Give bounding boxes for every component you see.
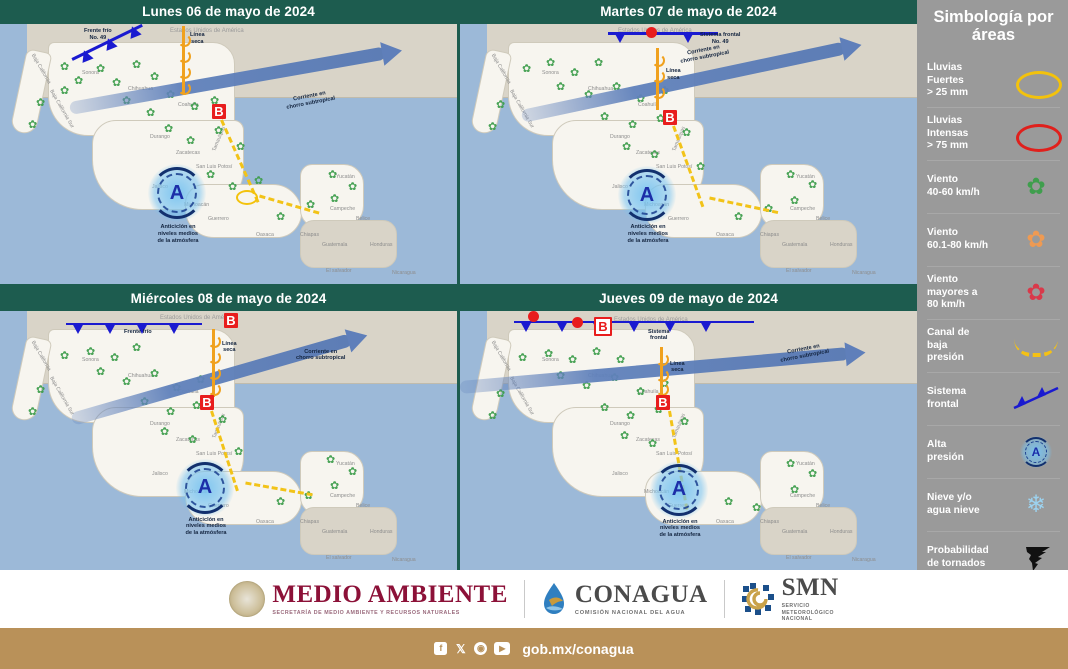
- panel-title-tuesday: Martes 07 de mayo de 2024: [460, 0, 917, 24]
- label-jalisco: Jalisco: [152, 471, 168, 477]
- red-ellipse-icon: [1012, 117, 1060, 151]
- label-nicaragua: Nicaragua: [392, 270, 416, 276]
- wind-swirl-icon: ✿: [164, 124, 173, 135]
- label-belice: Belice: [816, 503, 830, 509]
- wind-swirl-icon: ✿: [132, 343, 141, 354]
- facebook-icon[interactable]: f: [434, 642, 447, 655]
- yellow-dashed-trough-icon: [1012, 329, 1060, 363]
- wind-swirl-icon: ✿: [330, 481, 339, 492]
- wind-swirl-icon: ✿: [790, 485, 799, 496]
- high-pressure-letter: A: [148, 164, 206, 222]
- wind-swirl-icon: ✿: [276, 497, 285, 508]
- weather-forecast-infographic: Lunes 06 de mayo de 2024 Estados Unidos …: [0, 0, 1068, 669]
- low-pressure-marker: B: [656, 395, 670, 410]
- wind-swirl-icon: ✿: [150, 72, 159, 83]
- wind-swirl-icon: ✿: [600, 403, 609, 414]
- dry-line-scallop: [656, 353, 669, 366]
- panel-title-thursday: Jueves 09 de mayo de 2024: [460, 287, 917, 311]
- wind-swirl-icon: ✿: [734, 212, 743, 223]
- conagua-water-drop-icon: [541, 582, 568, 616]
- dry-line-scallop: [652, 54, 665, 67]
- label-el-salvador: El salvador: [786, 555, 812, 561]
- cold-front-pip: [556, 321, 568, 332]
- label-belice: Belice: [356, 503, 370, 509]
- wind-swirl-icon: ✿: [570, 68, 579, 79]
- wind-swirl-icon: ✿: [636, 387, 645, 398]
- logo-medio-ambiente: MEDIO AMBIENTE SECRETARÍA DE MEDIO AMBIE…: [213, 581, 524, 617]
- cold-front-svg: [1012, 382, 1060, 416]
- red-wind-swirl-icon: ✿: [1012, 276, 1060, 310]
- wind-swirl-icon: ✿: [330, 194, 339, 205]
- dry-line-label: Línea seca: [222, 341, 237, 355]
- dry-line-label: Línea seca: [666, 68, 681, 82]
- conagua-subtitle: COMISIÓN NACIONAL DEL AGUA: [575, 610, 708, 616]
- wind-swirl-icon: ✿: [682, 128, 691, 139]
- map-tuesday: Estados Unidos de América Baja Californi…: [460, 24, 917, 284]
- wind-swirl-icon: ✿: [86, 347, 95, 358]
- label-honduras: Honduras: [830, 529, 853, 535]
- jet-stream-label: Corriente en chorro subtropical: [296, 349, 345, 363]
- wind-swirl-icon: ✿: [594, 58, 603, 69]
- high-pressure-letter: A: [176, 459, 234, 517]
- label-guerrero: Guerrero: [208, 216, 229, 222]
- heavy-rain-ellipse: [236, 190, 258, 205]
- wind-swirl-icon: ✿: [186, 136, 195, 147]
- panel-title-wednesday: Miércoles 08 de mayo de 2024: [0, 287, 457, 311]
- wind-swirl-icon: ✿: [146, 108, 155, 119]
- label-yucatan: Yucatán: [336, 174, 355, 180]
- wind-swirl-icon: ✿: [28, 120, 37, 131]
- label-el-salvador: El salvador: [326, 555, 352, 561]
- cold-front-pip: [682, 32, 694, 43]
- label-nicaragua: Nicaragua: [392, 557, 416, 563]
- forecast-panel-grid: Lunes 06 de mayo de 2024 Estados Unidos …: [0, 0, 917, 570]
- cold-front-pip: [72, 323, 84, 334]
- smn-subtitle: SERVICIO METEOROLÓGICO NACIONAL: [782, 603, 839, 622]
- legend-label: Sistema frontal: [927, 386, 966, 411]
- legend-label: Lluvias Intensas > 75 mm: [927, 115, 968, 153]
- label-oaxaca: Oaxaca: [256, 232, 274, 238]
- wind-swirl-icon: ✿: [112, 78, 121, 89]
- high-pressure-system: A: [176, 459, 234, 517]
- dry-line-scallop: [208, 383, 221, 396]
- legend-item-viento-mayor-80: Viento mayores a 80 km/h ✿: [927, 267, 1060, 320]
- high-pressure-label: Anticiclón en niveles medios de la atmós…: [608, 224, 688, 245]
- label-durango: Durango: [610, 134, 630, 140]
- orange-wind-swirl-icon: ✿: [1012, 223, 1060, 257]
- dry-line-scallop: [178, 50, 191, 63]
- wind-swirl-icon: ✿: [592, 347, 601, 358]
- wind-swirl-icon: ✿: [328, 170, 337, 181]
- dry-line-label: Línea seca: [190, 32, 205, 46]
- logo-smn: SMN SERVICIO METEOROLÓGICO NACIONAL: [725, 575, 855, 622]
- legend-item-nieve: Nieve y/o agua nieve ❄: [927, 479, 1060, 532]
- low-pressure-marker-north: B: [224, 313, 238, 328]
- label-honduras: Honduras: [830, 242, 853, 248]
- wind-swirl-icon: ✿: [60, 62, 69, 73]
- cold-front-pip: [614, 32, 626, 43]
- bottom-social-bar: f 𝕏 ◉ ▶ gob.mx/conagua: [0, 628, 1068, 669]
- label-jalisco: Jalisco: [612, 471, 628, 477]
- wind-swirl-icon: ✿: [74, 76, 83, 87]
- logo-conagua: CONAGUA COMISIÓN NACIONAL DEL AGUA: [525, 582, 724, 616]
- wind-swirl-icon: ✿: [28, 407, 37, 418]
- wind-swirl-icon: ✿: [214, 126, 223, 137]
- forecast-panel-tuesday: Martes 07 de mayo de 2024 Estados Unidos…: [460, 0, 917, 284]
- label-chiapas: Chiapas: [760, 519, 779, 525]
- label-guatemala: Guatemala: [322, 242, 347, 248]
- snowflake-icon: ❄: [1012, 488, 1060, 522]
- cold-front-line: [66, 323, 202, 326]
- high-pressure-system: A: [650, 461, 708, 519]
- wind-swirl-icon: ✿: [518, 353, 527, 364]
- label-honduras: Honduras: [370, 242, 393, 248]
- conagua-drop-svg: [541, 582, 568, 616]
- label-honduras: Honduras: [370, 529, 393, 535]
- label-yucatan: Yucatán: [796, 461, 815, 467]
- medio-ambiente-subtitle: SECRETARÍA DE MEDIO AMBIENTE Y RECURSOS …: [272, 610, 508, 616]
- instagram-icon[interactable]: ◉: [474, 642, 487, 655]
- label-chiapas: Chiapas: [300, 232, 319, 238]
- conagua-name: CONAGUA: [575, 582, 708, 607]
- warm-front-marker: [528, 311, 539, 322]
- legend-title: Simbología por áreas: [927, 8, 1060, 45]
- wind-swirl-icon: ✿: [96, 367, 105, 378]
- wind-swirl-icon: ✿: [110, 353, 119, 364]
- cold-front-pip: [520, 321, 532, 332]
- forecast-panel-thursday: Jueves 09 de mayo de 2024 Estados Unidos…: [460, 287, 917, 571]
- high-pressure-label: Anticiclón en niveles medios de la atmós…: [138, 224, 218, 245]
- warm-front-marker: [572, 317, 583, 328]
- wind-swirl-icon: ✿: [522, 64, 531, 75]
- map-monday: Estados Unidos de América Baja Californi…: [0, 24, 457, 284]
- wind-swirl-icon: ✿: [228, 182, 237, 193]
- wind-swirl-icon: ✿: [650, 150, 659, 161]
- wind-swirl-icon: ✿: [556, 82, 565, 93]
- label-guatemala: Guatemala: [782, 529, 807, 535]
- warm-front-marker: [646, 27, 657, 38]
- wind-swirl-icon: ✿: [790, 196, 799, 207]
- dry-line-scallop: [208, 335, 221, 348]
- legend-item-viento-40-60: Viento 40-60 km/h ✿: [927, 161, 1060, 214]
- legend-label: Viento mayores a 80 km/h: [927, 274, 977, 312]
- wind-swirl-icon: ✿: [620, 431, 629, 442]
- wind-swirl-icon: ✿: [696, 162, 705, 173]
- wind-swirl-icon: ✿: [496, 100, 505, 111]
- cold-front-pip: [168, 323, 180, 334]
- wind-swirl-icon: ✿: [36, 385, 45, 396]
- legend-label: Canal de baja presión: [927, 327, 969, 365]
- dry-line-scallop: [208, 367, 221, 380]
- label-oaxaca: Oaxaca: [716, 232, 734, 238]
- wind-swirl-icon: ✿: [628, 120, 637, 131]
- label-guatemala: Guatemala: [782, 242, 807, 248]
- wind-swirl-icon: ✿: [544, 349, 553, 360]
- wind-swirl-icon: ✿: [546, 58, 555, 69]
- wind-swirl-icon: ✿: [622, 142, 631, 153]
- wind-swirl-icon: ✿: [600, 112, 609, 123]
- frontal-system-label: Sistema frontal No. 49: [700, 32, 740, 46]
- cold-front-pip: [628, 321, 640, 332]
- wind-swirl-icon: ✿: [626, 411, 635, 422]
- wind-swirl-icon: ✿: [786, 170, 795, 181]
- medio-ambiente-name: MEDIO AMBIENTE: [272, 582, 508, 607]
- wind-swirl-icon: ✿: [488, 122, 497, 133]
- high-pressure-label: Anticiclón en niveles medios de la atmós…: [640, 519, 720, 540]
- dry-line-label: Línea seca: [670, 361, 685, 375]
- label-el-salvador: El salvador: [786, 268, 812, 274]
- yellow-ellipse-icon: [1012, 64, 1060, 98]
- frontal-system-label: Sistema frontal: [648, 329, 669, 343]
- low-pressure-marker: B: [212, 104, 226, 119]
- label-nicaragua: Nicaragua: [852, 557, 876, 563]
- x-twitter-icon[interactable]: 𝕏: [454, 642, 467, 655]
- wind-swirl-icon: ✿: [680, 417, 689, 428]
- legend-label: Lluvias Fuertes > 25 mm: [927, 62, 968, 100]
- wind-swirl-icon: ✿: [724, 497, 733, 508]
- dry-line-scallop: [208, 351, 221, 364]
- green-wind-swirl-icon: ✿: [1012, 170, 1060, 204]
- youtube-icon[interactable]: ▶: [494, 642, 510, 655]
- label-belice: Belice: [356, 216, 370, 222]
- label-chiapas: Chiapas: [300, 519, 319, 525]
- low-pressure-marker-north: B: [594, 317, 612, 336]
- dry-line-scallop: [656, 383, 669, 396]
- high-pressure-A-icon: A: [1012, 435, 1060, 469]
- wind-swirl-icon: ✿: [160, 427, 169, 438]
- legend-panel: Simbología por áreas Lluvias Fuertes > 2…: [917, 0, 1068, 570]
- wind-swirl-icon: ✿: [348, 467, 357, 478]
- wind-swirl-icon: ✿: [166, 407, 175, 418]
- high-pressure-label: Anticiclón en niveles medios de la atmós…: [166, 517, 246, 538]
- wind-swirl-icon: ✿: [276, 212, 285, 223]
- high-pressure-system: A: [618, 166, 676, 224]
- label-belice: Belice: [816, 216, 830, 222]
- low-pressure-marker: B: [663, 110, 677, 125]
- wind-swirl-icon: ✿: [218, 415, 227, 426]
- cold-front-label: Frente frío: [124, 329, 152, 336]
- wind-swirl-icon: ✿: [188, 435, 197, 446]
- wind-swirl-icon: ✿: [190, 102, 199, 113]
- panel-title-monday: Lunes 06 de mayo de 2024: [0, 0, 457, 24]
- map-thursday: Estados Unidos de América Baja Californi…: [460, 311, 917, 571]
- legend-item-viento-60-80: Viento 60.1-80 km/h ✿: [927, 214, 1060, 267]
- label-chiapas: Chiapas: [760, 232, 779, 238]
- label-oaxaca: Oaxaca: [256, 519, 274, 525]
- dry-line-scallop: [178, 66, 191, 79]
- wind-swirl-icon: ✿: [488, 411, 497, 422]
- label-nicaragua: Nicaragua: [852, 270, 876, 276]
- wind-swirl-icon: ✿: [132, 60, 141, 71]
- mexican-eagle-seal-icon: [229, 581, 265, 617]
- low-pressure-marker: B: [200, 395, 214, 410]
- legend-item-alta-presion: Alta presión A: [927, 426, 1060, 479]
- wind-swirl-icon: ✿: [648, 439, 657, 450]
- high-pressure-letter: A: [618, 166, 676, 224]
- wind-swirl-icon: ✿: [568, 355, 577, 366]
- cold-front-label: Frente frío No. 49: [84, 28, 112, 42]
- label-campeche: Campeche: [330, 493, 355, 499]
- legend-label: Viento 60.1-80 km/h: [927, 227, 988, 252]
- wind-swirl-icon: ✿: [122, 377, 131, 388]
- label-guatemala: Guatemala: [322, 529, 347, 535]
- forecast-panel-monday: Lunes 06 de mayo de 2024 Estados Unidos …: [0, 0, 457, 284]
- legend-item-canal-baja-presion: Canal de baja presión: [927, 320, 1060, 373]
- footer-logos: MEDIO AMBIENTE SECRETARÍA DE MEDIO AMBIE…: [0, 570, 1068, 628]
- wind-swirl-icon: ✿: [60, 86, 69, 97]
- wind-swirl-icon: ✿: [808, 469, 817, 480]
- wind-swirl-icon: ✿: [254, 176, 263, 187]
- smn-spiral-svg: [741, 582, 775, 616]
- high-pressure-system: A: [148, 164, 206, 222]
- forecast-panel-wednesday: Miércoles 08 de mayo de 2024 Estados Uni…: [0, 287, 457, 571]
- wind-swirl-icon: ✿: [234, 447, 243, 458]
- label-zacatecas: Zacatecas: [176, 150, 200, 156]
- dry-line-scallop: [652, 86, 665, 99]
- dry-line-scallop: [178, 82, 191, 95]
- website-url[interactable]: gob.mx/conagua: [522, 641, 633, 657]
- wind-swirl-icon: ✿: [36, 98, 45, 109]
- legend-item-lluvias-fuertes: Lluvias Fuertes > 25 mm: [927, 55, 1060, 108]
- wind-swirl-icon: ✿: [616, 355, 625, 366]
- blue-cold-front-icon: [1012, 382, 1060, 416]
- cold-front-pip: [104, 323, 116, 334]
- legend-label: Probabilidad de tornados: [927, 545, 989, 570]
- smn-spiral-icon: [741, 582, 775, 616]
- smn-name: SMN: [782, 575, 839, 600]
- wind-swirl-icon: ✿: [326, 455, 335, 466]
- cold-front-pip: [700, 321, 712, 332]
- wind-swirl-icon: ✿: [786, 459, 795, 470]
- high-pressure-letter: A: [650, 461, 708, 519]
- dry-line-scallop: [652, 70, 665, 83]
- wind-swirl-icon: ✿: [150, 369, 159, 380]
- label-estados-unidos: Estados Unidos de América: [160, 315, 234, 321]
- wind-swirl-icon: ✿: [752, 503, 761, 514]
- label-campeche: Campeche: [330, 206, 355, 212]
- legend-label: Nieve y/o agua nieve: [927, 492, 980, 517]
- legend-label: Alta presión: [927, 439, 964, 464]
- legend-item-lluvias-intensas: Lluvias Intensas > 75 mm: [927, 108, 1060, 161]
- dry-line-scallop: [656, 369, 669, 382]
- label-el-salvador: El salvador: [326, 268, 352, 274]
- wind-swirl-icon: ✿: [60, 351, 69, 362]
- wind-swirl-icon: ✿: [96, 64, 105, 75]
- wind-swirl-icon: ✿: [348, 182, 357, 193]
- wind-swirl-icon: ✿: [808, 180, 817, 191]
- wind-swirl-icon: ✿: [206, 170, 215, 181]
- label-sonora: Sonora: [542, 70, 559, 76]
- map-wednesday: Estados Unidos de América Baja Californi…: [0, 311, 457, 571]
- legend-item-sistema-frontal: Sistema frontal: [927, 373, 1060, 426]
- legend-label: Viento 40-60 km/h: [927, 174, 980, 199]
